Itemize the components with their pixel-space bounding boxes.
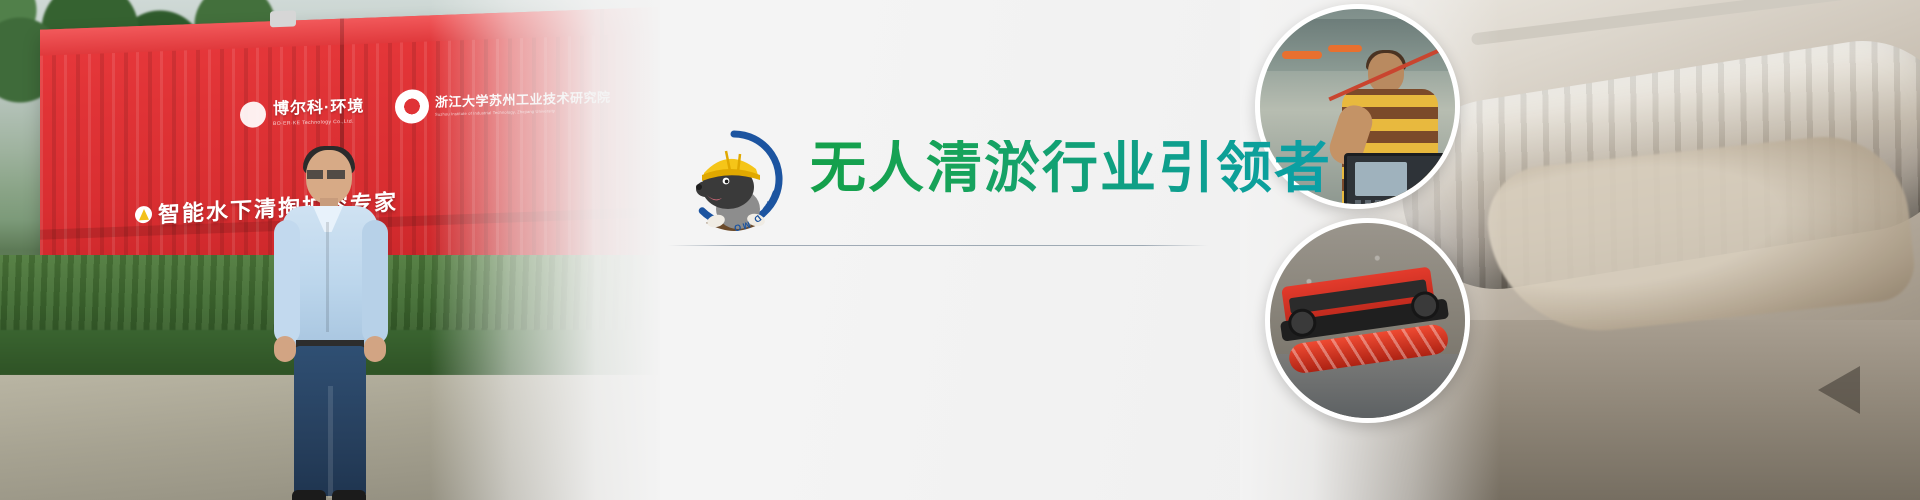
headline-divider [668, 245, 1208, 246]
control-case-screen [1355, 162, 1407, 196]
flow-arrow-icon [1818, 366, 1860, 414]
slogan-badge-icon [135, 205, 152, 223]
headline-text: 无人清淤行业引领者 [810, 140, 1332, 196]
container-logo-primary: 博尔科·环境 BO·ER·KE Technology Co.,Ltd. [240, 98, 364, 128]
dredging-robot [1281, 264, 1465, 397]
figure-arm-right [362, 220, 388, 344]
figure-leg-split [328, 386, 333, 498]
center-content: MUD MOLE 无人清淤行业引领者 [660, 0, 1260, 500]
control-case [1344, 153, 1446, 209]
zju-seal-icon [395, 89, 429, 124]
mud-mole-logo: MUD MOLE [680, 125, 788, 233]
left-photo-fade [430, 0, 660, 500]
container-vent [270, 10, 296, 27]
figure-placket [326, 222, 329, 332]
figure-glasses [307, 170, 351, 179]
figure-shoe-left [292, 490, 326, 500]
left-photo: 博尔科·环境 BO·ER·KE Technology Co.,Ltd. 浙江大学… [0, 0, 660, 500]
inset-top-operator [1334, 53, 1444, 203]
boerke-mark-icon [240, 101, 266, 128]
figure-shoe-right [332, 490, 366, 500]
figure-hand-right [364, 336, 386, 362]
figure-hand-left [274, 336, 296, 362]
container-logo-primary-text: 博尔科·环境 [273, 99, 364, 118]
engineer-figure [270, 150, 395, 500]
inset-top-float-2 [1328, 45, 1362, 52]
inset-photo-robot [1265, 218, 1470, 423]
hero-banner: 博尔科·环境 BO·ER·KE Technology Co.,Ltd. 浙江大学… [0, 0, 1920, 500]
figure-arm-left [274, 220, 300, 344]
inset-top-float-1 [1282, 51, 1322, 59]
